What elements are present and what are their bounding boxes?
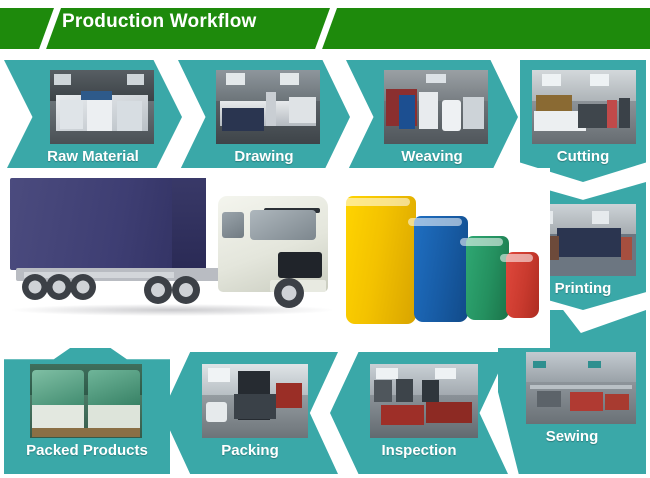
workflow-step-label: Weaving <box>346 148 518 165</box>
woven-bag-product-group <box>340 190 545 340</box>
workflow-step-label: Raw Material <box>4 148 182 165</box>
page-title: Production Workflow <box>62 9 312 35</box>
workflow-step-photo <box>216 70 320 144</box>
woven-bag-red <box>506 252 539 318</box>
workflow-step-photo <box>526 352 636 424</box>
workflow-step-photo <box>202 364 308 438</box>
workflow-step-label: Inspection <box>330 442 508 459</box>
truck-trailer <box>10 178 206 270</box>
workflow-step-inspection[interactable]: Inspection <box>330 352 508 474</box>
truck-wheel <box>46 274 72 300</box>
workflow-step-cutting[interactable]: Cutting <box>520 60 646 182</box>
workflow-step-photo <box>370 364 478 438</box>
workflow-step-drawing[interactable]: Drawing <box>178 60 350 174</box>
truck-wheel <box>22 274 48 300</box>
truck-wheel <box>144 276 172 304</box>
truck-windshield <box>250 210 316 240</box>
truck-wheel <box>70 274 96 300</box>
header-slash-left-icon <box>36 8 63 49</box>
workflow-step-photo <box>30 364 142 438</box>
workflow-step-label: Sewing <box>498 428 646 445</box>
workflow-step-raw-material[interactable]: Raw Material <box>4 60 182 174</box>
workflow-step-label: Cutting <box>520 148 646 165</box>
workflow-step-label: Packing <box>162 442 338 459</box>
centre-product-photo-area <box>4 168 550 348</box>
workflow-step-photo <box>384 70 488 144</box>
workflow-step-packed-products[interactable]: Packed Products <box>4 334 170 474</box>
woven-bag-blue <box>414 216 468 322</box>
workflow-step-photo <box>532 70 636 144</box>
truck-wheel <box>274 278 304 308</box>
production-workflow-infographic: Production Workflow Raw Material <box>0 0 650 478</box>
woven-bag-yellow <box>346 196 416 324</box>
workflow-step-photo <box>50 70 154 144</box>
header-slash-right-icon <box>312 8 339 49</box>
workflow-step-packing[interactable]: Packing <box>162 352 338 474</box>
workflow-step-label: Packed Products <box>4 442 170 459</box>
truck-wheel <box>172 276 200 304</box>
truck-side-window <box>222 212 244 238</box>
delivery-truck-photo <box>6 172 336 332</box>
truck-grille <box>278 252 322 278</box>
workflow-step-label: Drawing <box>178 148 350 165</box>
workflow-step-weaving[interactable]: Weaving <box>346 60 518 174</box>
woven-bag-green <box>466 236 509 320</box>
